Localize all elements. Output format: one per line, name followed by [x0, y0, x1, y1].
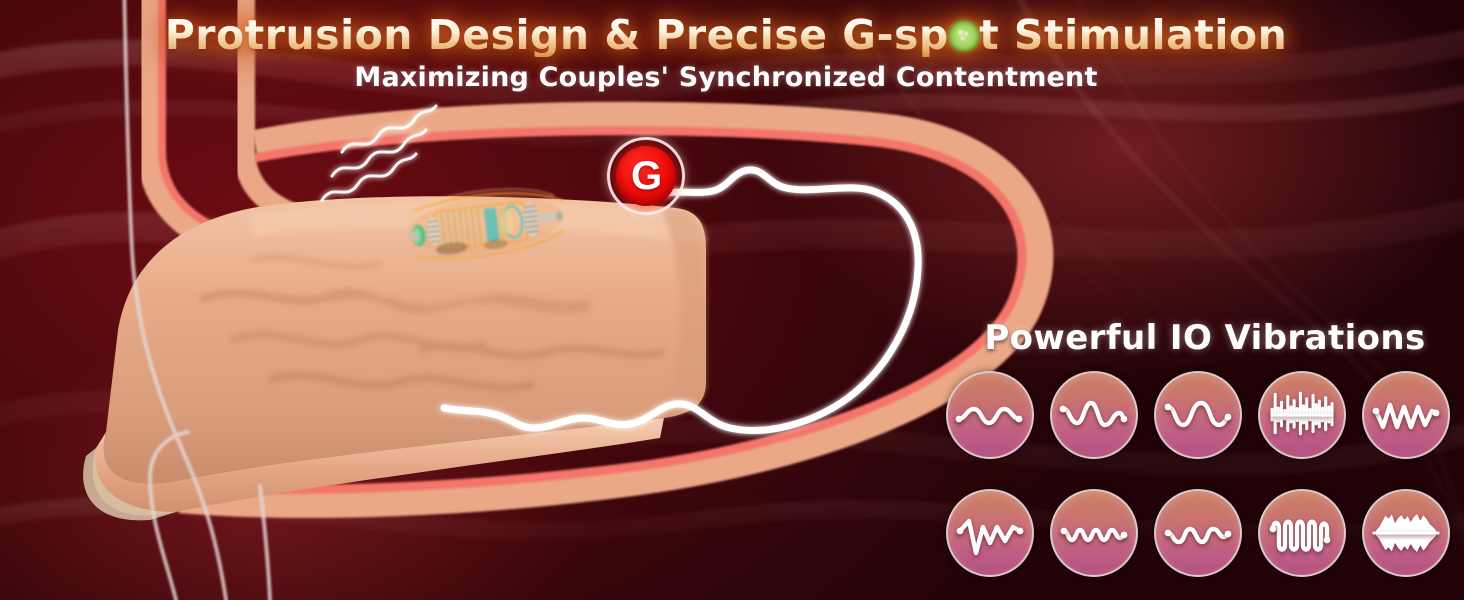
headline-part-2: t Stimulation	[979, 11, 1287, 59]
medium-ripple-wave-icon	[1163, 507, 1233, 559]
g-spot-marker[interactable]: G	[607, 137, 685, 215]
vibration-mode-10[interactable]	[1362, 489, 1450, 577]
vibration-mode-6[interactable]	[946, 489, 1034, 577]
headline-part-1: Protrusion Design & Precise G-sp	[165, 11, 949, 59]
gentle-ripple-wave-icon	[955, 389, 1025, 441]
slow-swell-wave-icon	[1163, 389, 1233, 441]
vibrations-title: Powerful IO Vibrations	[965, 318, 1445, 358]
vibration-modes-grid	[946, 371, 1454, 577]
vibration-mode-7[interactable]	[1050, 489, 1138, 577]
vibration-mode-3[interactable]	[1154, 371, 1242, 459]
headline-container: Protrusion Design & Precise G-spt Stimul…	[0, 14, 1464, 57]
page-title: Protrusion Design & Precise G-spt Stimul…	[165, 14, 1288, 57]
vibration-mode-9[interactable]	[1258, 489, 1346, 577]
vibration-mode-8[interactable]	[1154, 489, 1242, 577]
vibration-mode-1[interactable]	[946, 371, 1034, 459]
subheadline-container: Maximizing Couples' Synchronized Content…	[0, 62, 1464, 93]
rapid-dense-wave-icon	[1267, 507, 1337, 559]
zigzag-pulse-wave-icon	[1371, 389, 1441, 441]
vibration-mode-2[interactable]	[1050, 371, 1138, 459]
g-marker-label: G	[631, 156, 661, 196]
vibration-mode-4[interactable]	[1258, 371, 1346, 459]
dense-audio-burst-wave-icon	[1371, 507, 1441, 559]
sharp-peak-wave-icon	[955, 507, 1025, 559]
product-feature-banner: G Protrusion Design & Precise G-spt Stim…	[0, 0, 1464, 600]
page-subtitle: Maximizing Couples' Synchronized Content…	[354, 62, 1097, 93]
erratic-burst-wave-icon	[1267, 389, 1337, 441]
cucumber-slice-icon	[949, 21, 979, 51]
rolling-wave-icon	[1059, 389, 1129, 441]
rapid-ripple-wave-icon	[1059, 507, 1129, 559]
g-marker-disc: G	[616, 146, 676, 206]
vibration-mode-5[interactable]	[1362, 371, 1450, 459]
